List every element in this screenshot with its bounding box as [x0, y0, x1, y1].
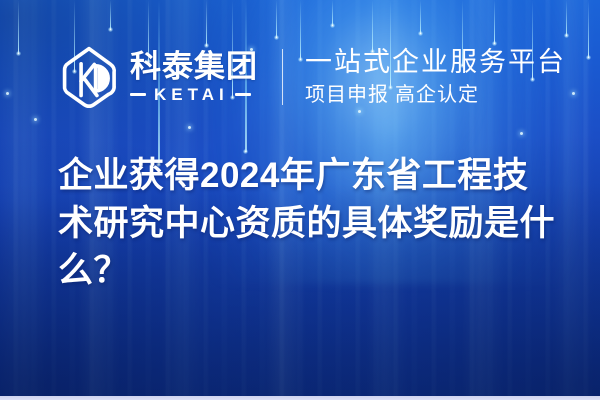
logo-dash-right-icon — [235, 93, 251, 96]
ketai-diamond-logo-icon — [56, 44, 122, 110]
slogan-sub: 项目申报 高企认定 — [305, 83, 566, 107]
logo-name-cn: 科泰集团 — [130, 51, 258, 84]
header-divider — [282, 49, 283, 105]
promo-banner: 科泰集团 KETAI 一站式企业服务平台 项目申报 高企认定 企业获得2024年… — [0, 0, 600, 400]
logo-name-en-row: KETAI — [130, 86, 258, 103]
slogan-main: 一站式企业服务平台 — [305, 47, 566, 78]
bottom-accent-strip — [0, 396, 600, 400]
page-title: 企业获得2024年广东省工程技术研究中心资质的具体奖励是什么？ — [58, 152, 558, 295]
brand-header: 科泰集团 KETAI 一站式企业服务平台 项目申报 高企认定 — [56, 42, 566, 112]
logo-dash-left-icon — [130, 93, 146, 96]
logo-name-en: KETAI — [154, 86, 229, 103]
logo-wordmark: 科泰集团 KETAI — [130, 51, 258, 104]
slogan-block: 一站式企业服务平台 项目申报 高企认定 — [305, 47, 566, 107]
